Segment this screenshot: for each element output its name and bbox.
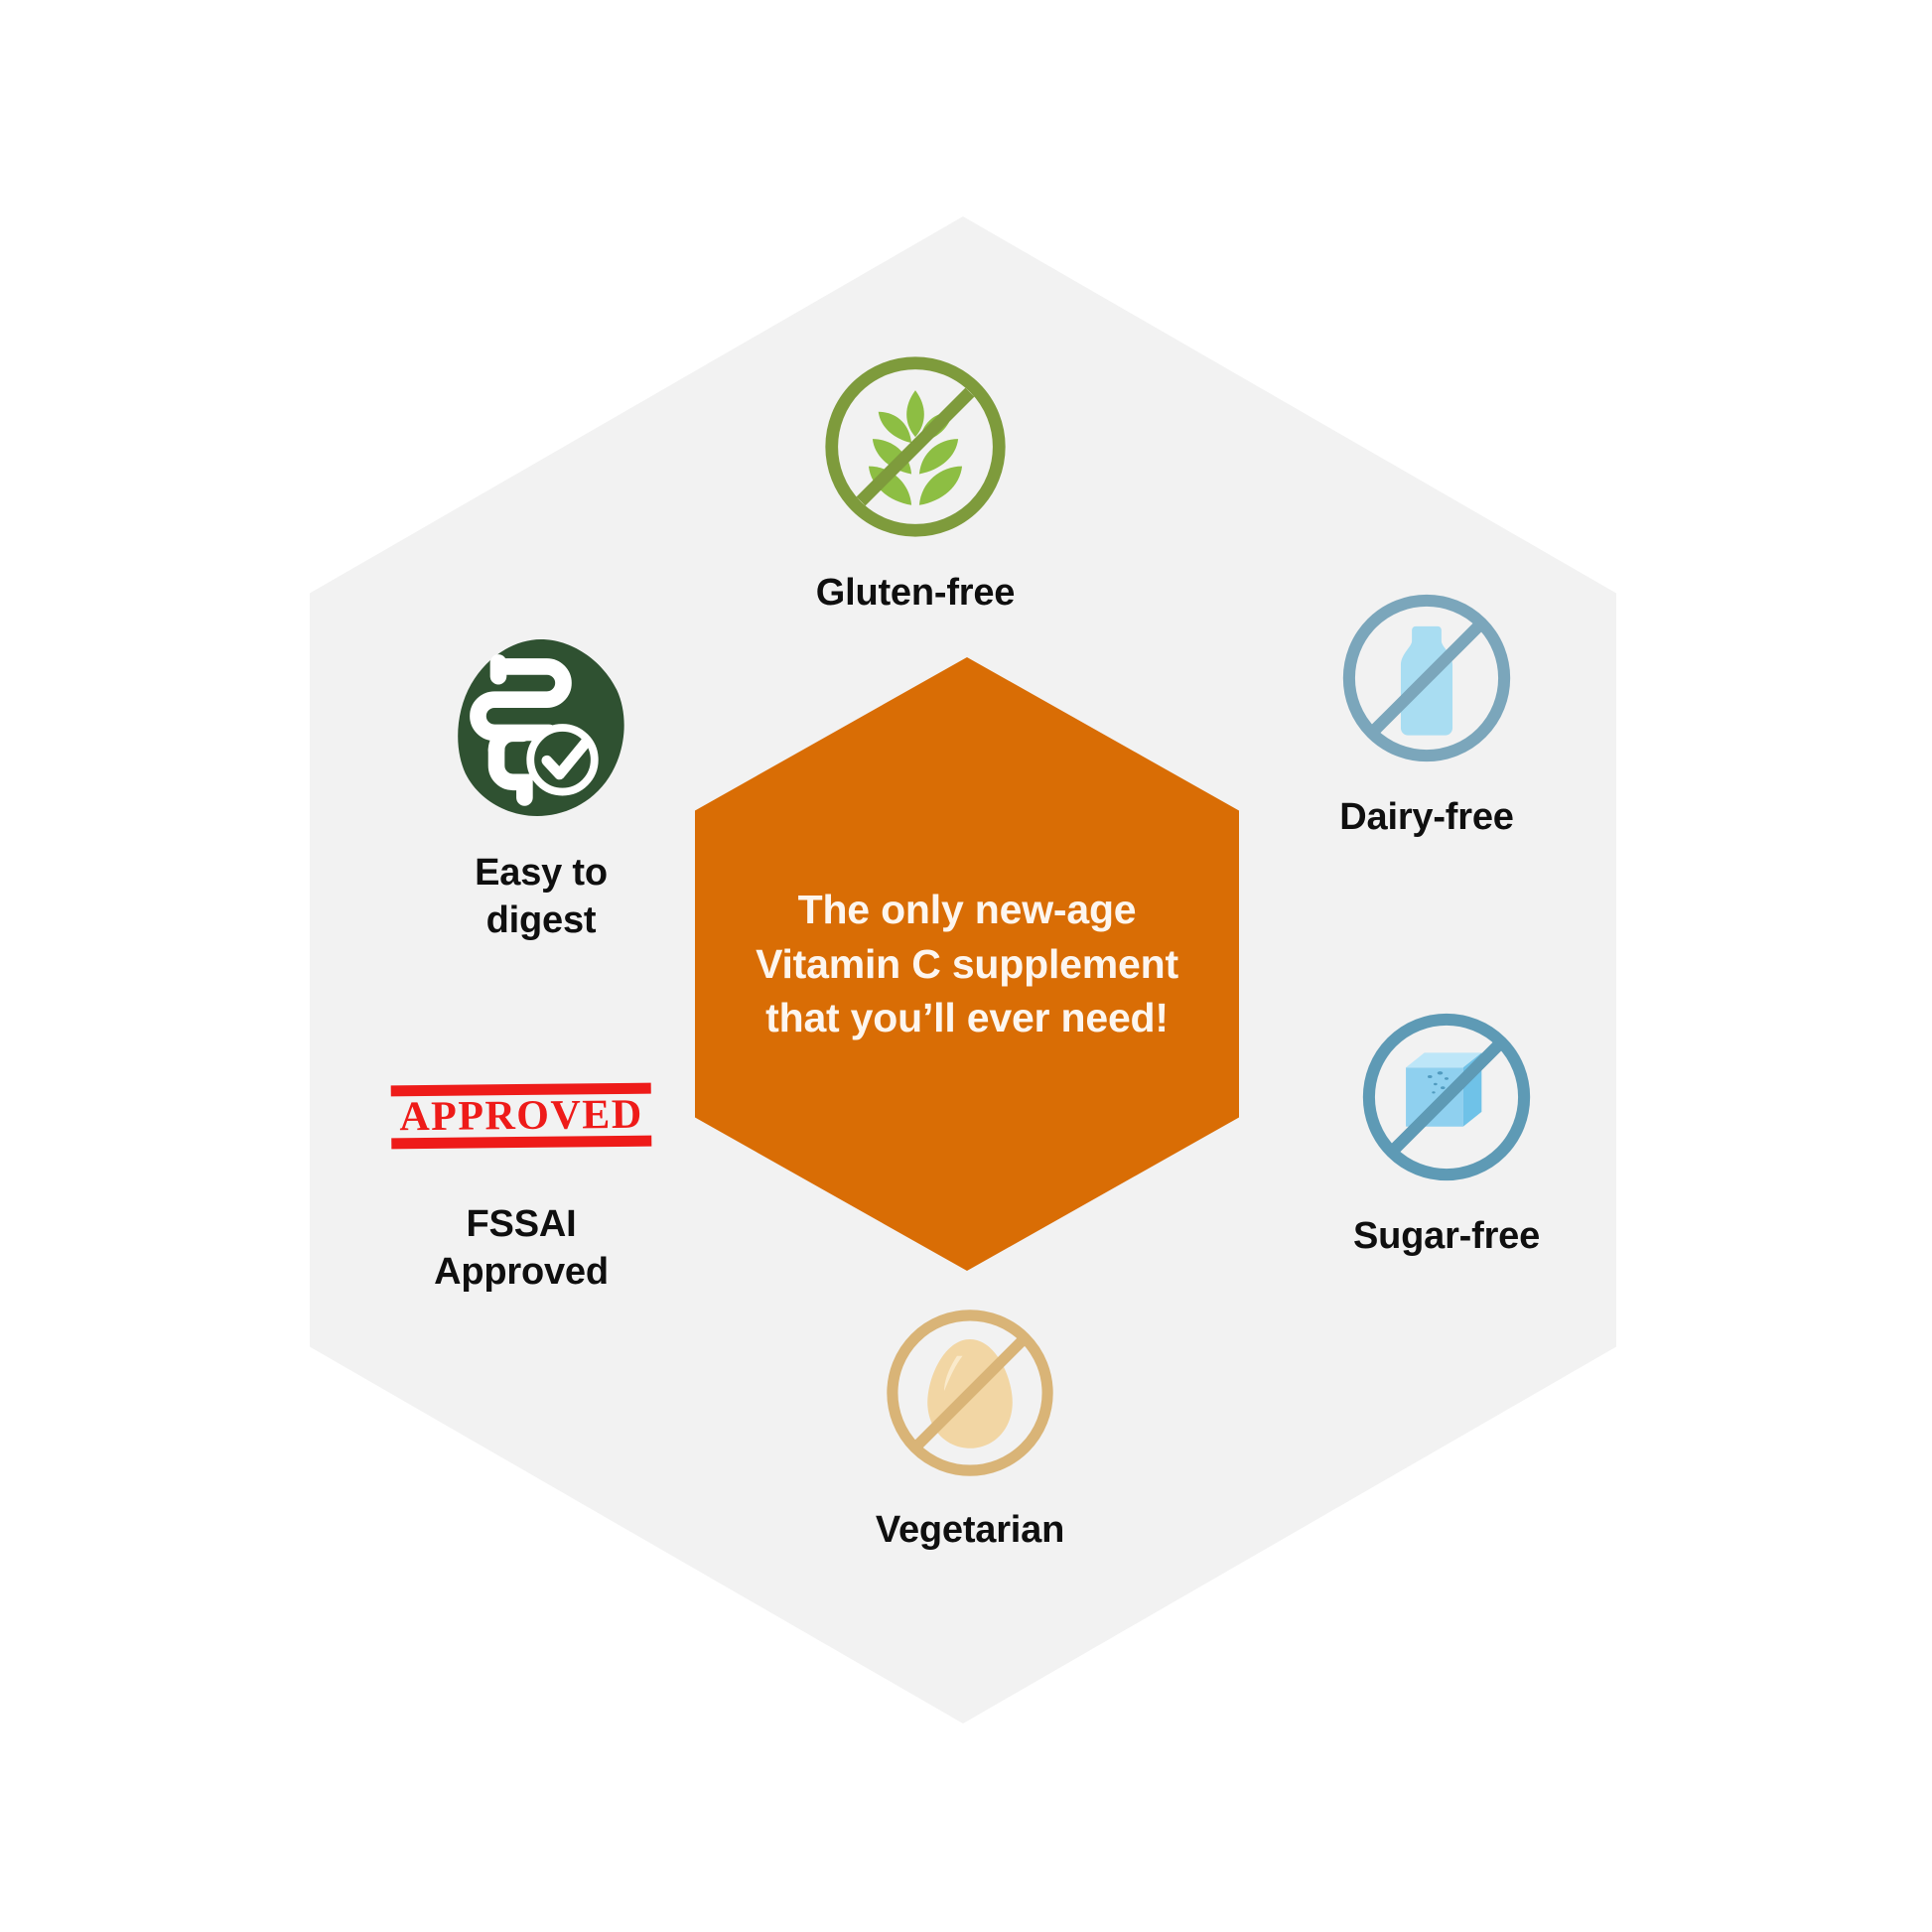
badge-dairy-free: Dairy-free — [1223, 586, 1630, 842]
badge-label-fssai-approved: FSSAI Approved — [434, 1201, 609, 1296]
badge-fssai-approved: APPROVED FSSAI Approved — [318, 1082, 725, 1296]
intestine-check-icon — [454, 635, 628, 820]
badge-vegetarian: Vegetarian — [757, 1301, 1183, 1555]
no-wheat-icon — [818, 349, 1013, 544]
no-egg-icon — [878, 1301, 1062, 1485]
badge-label-gluten-free: Gluten-free — [816, 570, 1016, 618]
badge-label-dairy-free: Dairy-free — [1339, 794, 1513, 842]
center-headline: The only new-age Vitamin C supplement th… — [730, 883, 1204, 1046]
infographic-canvas: The only new-age Vitamin C supplement th… — [0, 0, 1932, 1932]
badge-label-easy-to-digest: Easy to digest — [475, 850, 608, 944]
approved-stamp-icon: APPROVED — [391, 1082, 651, 1150]
stamp-text: APPROVED — [391, 1093, 651, 1140]
stamp-bar-bottom — [391, 1136, 651, 1150]
approved-stamp: APPROVED — [391, 1081, 652, 1152]
badge-easy-to-digest: Easy to digest — [338, 635, 745, 944]
badge-label-sugar-free: Sugar-free — [1353, 1213, 1540, 1261]
badge-gluten-free: Gluten-free — [697, 349, 1134, 618]
no-sugar-cube-icon — [1354, 1005, 1539, 1189]
no-milk-bottle-icon — [1334, 586, 1519, 770]
badge-sugar-free: Sugar-free — [1243, 1005, 1650, 1261]
badge-label-vegetarian: Vegetarian — [876, 1507, 1064, 1555]
